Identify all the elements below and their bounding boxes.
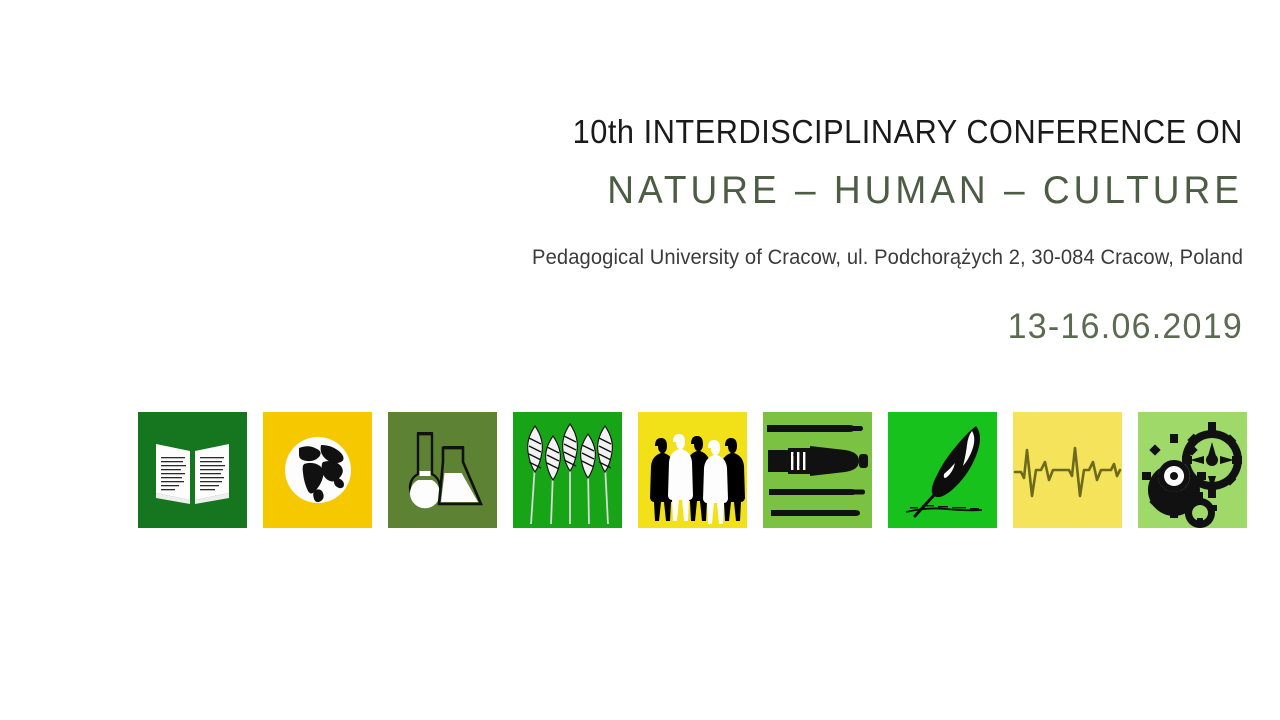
tile-book (138, 412, 247, 528)
icon-strip (138, 412, 1247, 528)
tile-flask (388, 412, 497, 528)
ecg-icon (1013, 412, 1122, 528)
quill-icon (888, 412, 997, 528)
tile-people (638, 412, 747, 528)
gears-icon (1138, 412, 1247, 528)
tile-gears (1138, 412, 1247, 528)
conference-date: 13-16.06.2019 (37, 290, 1243, 364)
book-icon (138, 412, 247, 528)
tile-ecg (1013, 412, 1122, 528)
brush-icon (763, 412, 872, 528)
page-subtitle: NATURE – HUMAN – CULTURE (62, 156, 1243, 226)
tile-quill (888, 412, 997, 528)
conference-slide: 10th INTERDISCIPLINARY CONFERENCE ON NAT… (0, 0, 1280, 720)
venue-address: Pedagogical University of Cracow, ul. Po… (50, 226, 1243, 290)
tile-wheat (513, 412, 622, 528)
globe-icon (263, 412, 372, 528)
wheat-icon (513, 412, 622, 528)
tile-globe (263, 412, 372, 528)
page-title: 10th INTERDISCIPLINARY CONFERENCE ON (87, 108, 1243, 156)
title-text-block: 10th INTERDISCIPLINARY CONFERENCE ON NAT… (0, 108, 1243, 364)
flask-icon (388, 412, 497, 528)
people-icon (638, 412, 747, 528)
tile-brush (763, 412, 872, 528)
